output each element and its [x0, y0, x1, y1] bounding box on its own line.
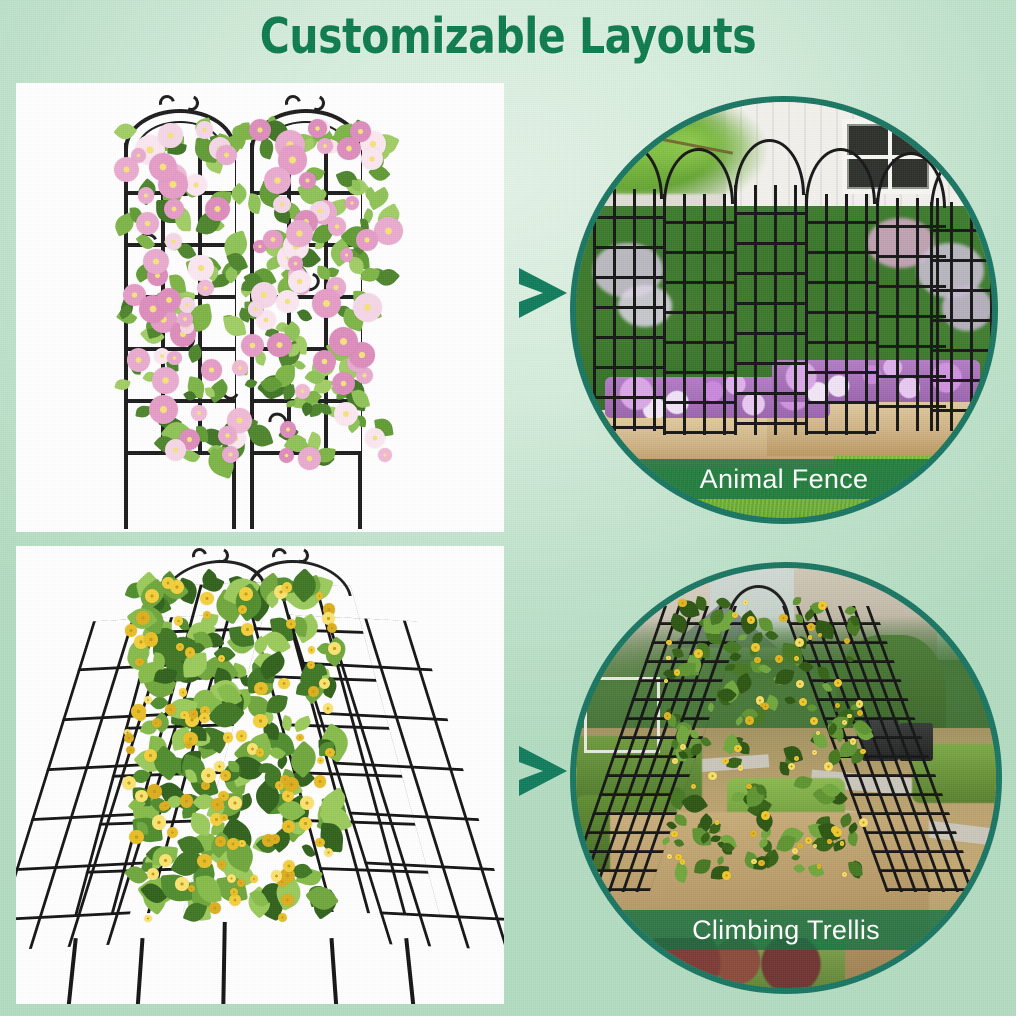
leaf: [793, 773, 812, 790]
flower: [131, 704, 146, 719]
leaf: [662, 837, 671, 845]
flower: [332, 372, 355, 395]
flower: [732, 612, 738, 618]
flower: [191, 405, 207, 421]
flower: [196, 121, 213, 138]
flower: [159, 854, 172, 867]
flower: [288, 256, 303, 271]
leaf: [784, 695, 796, 706]
flower: [127, 348, 150, 371]
leaf: [806, 702, 818, 714]
leaf: [793, 862, 806, 875]
flower: [179, 688, 187, 696]
flower: [818, 633, 822, 637]
product-card-flat-trellis: [16, 83, 504, 532]
flower: [316, 592, 323, 599]
flower: [746, 784, 751, 789]
flower: [188, 255, 214, 281]
flower: [164, 199, 184, 219]
leaf: [690, 743, 702, 755]
flower: [374, 217, 402, 245]
flower: [152, 367, 178, 393]
flower: [817, 864, 822, 869]
flower: [860, 749, 865, 754]
flower: [691, 784, 696, 789]
flower: [125, 624, 138, 637]
flower: [165, 439, 186, 460]
flower: [722, 758, 728, 764]
flower: [666, 640, 672, 646]
flower: [751, 643, 759, 651]
leaf: [280, 715, 294, 732]
flower: [179, 297, 195, 313]
arrow-to-animal-fence: [515, 264, 571, 322]
infographic-poster: Customizable Layouts: [0, 0, 1016, 1016]
flower: [299, 172, 315, 188]
flower: [237, 879, 245, 887]
flower: [824, 762, 833, 771]
flower: [149, 153, 177, 181]
flower: [158, 123, 182, 147]
flower: [833, 828, 842, 837]
flower: [812, 750, 817, 755]
flower: [667, 854, 673, 860]
flower: [792, 848, 798, 854]
flower: [675, 854, 682, 861]
flower: [715, 820, 719, 824]
flower: [185, 741, 192, 748]
flower: [199, 713, 210, 724]
flower: [220, 814, 228, 822]
flower: [760, 703, 765, 708]
clematis-foliage: [16, 83, 504, 532]
leaf: [265, 693, 287, 715]
flower: [215, 836, 226, 847]
flower: [788, 763, 795, 770]
flower: [738, 765, 744, 771]
flower: [797, 843, 803, 849]
climbing-trellis-photo: Climbing Trellis: [570, 562, 1002, 994]
fence-panel: [930, 202, 992, 431]
flower: [796, 680, 804, 688]
flower: [313, 350, 336, 373]
leaf: [716, 856, 726, 865]
flower: [147, 784, 162, 799]
flower: [122, 776, 136, 790]
flower: [694, 649, 703, 658]
flower: [754, 657, 760, 663]
flower: [808, 635, 813, 640]
flower: [361, 148, 383, 170]
flower: [165, 233, 182, 250]
flower: [722, 871, 731, 880]
flower: [674, 669, 680, 675]
flower: [279, 448, 295, 464]
flower: [175, 877, 188, 890]
flower: [750, 830, 757, 837]
flower: [794, 656, 799, 661]
flower: [844, 638, 850, 644]
flower: [216, 145, 236, 165]
flower: [174, 616, 183, 625]
leaf: [301, 842, 316, 858]
flower: [323, 703, 333, 713]
flower: [282, 820, 295, 833]
flower: [324, 848, 333, 857]
flower: [334, 402, 358, 426]
flower: [298, 447, 320, 469]
flower: [201, 359, 223, 381]
leaf: [690, 729, 699, 739]
flower: [185, 174, 207, 196]
flower: [807, 623, 816, 632]
flower: [317, 757, 324, 764]
flower: [308, 119, 327, 138]
leaf: [292, 716, 311, 733]
flower: [236, 730, 248, 742]
flower: [144, 696, 152, 704]
flower: [217, 860, 226, 869]
flower: [799, 698, 808, 707]
leaf: [672, 862, 690, 884]
flower: [325, 748, 334, 757]
flower: [818, 601, 827, 610]
flower: [167, 827, 178, 838]
flower: [664, 679, 668, 683]
fence-panel: [663, 194, 734, 435]
flower: [278, 678, 289, 689]
leaf: [791, 853, 800, 862]
leaf: [114, 119, 138, 143]
flower: [745, 716, 754, 725]
leaf: [739, 634, 747, 641]
leaf: [844, 604, 856, 616]
leaf: [707, 702, 716, 712]
flower: [256, 748, 264, 756]
flower: [205, 197, 230, 222]
arrow-to-climbing-trellis: [515, 742, 571, 800]
leaf: [821, 682, 832, 695]
leaf: [818, 666, 830, 680]
flower: [286, 220, 313, 247]
cucumber-foliage: [16, 546, 504, 1004]
flower: [209, 902, 221, 914]
leaf: [795, 614, 803, 624]
flower: [356, 229, 378, 251]
leaf: [674, 814, 687, 826]
leaf: [731, 790, 745, 802]
flower: [230, 888, 238, 896]
flower: [315, 838, 325, 848]
flower: [666, 656, 671, 661]
leaf: [671, 647, 683, 659]
leaf: [115, 377, 131, 391]
flower: [761, 811, 770, 820]
leaf: [851, 616, 860, 626]
flower: [197, 854, 211, 868]
flower: [143, 249, 169, 275]
flower: [327, 623, 338, 634]
flower: [280, 775, 289, 784]
flower: [267, 333, 292, 358]
flower: [180, 794, 194, 808]
flower: [345, 196, 359, 210]
flower: [734, 745, 742, 753]
leaf: [814, 620, 835, 640]
flower: [238, 840, 245, 847]
flower: [353, 293, 382, 322]
flower: [842, 872, 847, 877]
flower: [276, 290, 299, 313]
leaf: [673, 837, 684, 848]
flower: [200, 592, 214, 606]
flower: [218, 655, 225, 662]
flower: [189, 709, 198, 718]
flower: [365, 428, 385, 448]
product-card-aframe-trellis: [16, 546, 504, 1004]
flower: [144, 915, 151, 922]
leaf: [734, 716, 745, 726]
flower: [129, 830, 143, 844]
flower: [138, 187, 155, 204]
fence-panel: [805, 194, 876, 435]
flower: [835, 703, 840, 708]
flower: [152, 815, 167, 830]
flower: [378, 448, 392, 462]
climbing-trellis-caption: Climbing Trellis: [576, 910, 996, 950]
fence-panel: [593, 189, 664, 430]
flower: [805, 837, 812, 844]
flower: [810, 717, 818, 725]
flower: [157, 288, 181, 312]
fence-panel: [734, 185, 805, 435]
leaf: [793, 597, 801, 606]
flower: [222, 446, 239, 463]
flower: [340, 248, 353, 261]
flower: [847, 714, 852, 719]
flower: [228, 796, 242, 810]
flower: [680, 859, 685, 864]
leaf: [774, 667, 794, 686]
flower: [308, 686, 318, 696]
flower: [124, 733, 134, 743]
flower: [672, 758, 678, 764]
flower: [223, 732, 234, 743]
leaf: [845, 654, 854, 663]
flower: [743, 600, 748, 605]
flower: [708, 772, 717, 781]
flower: [850, 738, 857, 745]
flower: [147, 868, 158, 879]
leaf: [244, 377, 257, 390]
flower: [775, 655, 783, 663]
flower: [319, 678, 330, 689]
leaf: [351, 180, 360, 191]
flower: [126, 746, 135, 755]
leaf: [700, 736, 712, 748]
leaf: [186, 344, 205, 364]
flower: [314, 775, 326, 787]
flower: [197, 280, 213, 296]
flower: [779, 614, 787, 622]
flower: [136, 611, 149, 624]
flower: [248, 301, 263, 316]
flower: [308, 646, 316, 654]
flower: [278, 913, 287, 922]
flower: [859, 818, 868, 827]
flower: [167, 351, 182, 366]
flower: [270, 834, 279, 843]
flower: [136, 212, 160, 236]
flower: [263, 230, 283, 250]
flower: [671, 831, 678, 838]
flower: [856, 700, 863, 707]
flower: [280, 421, 297, 438]
flower: [300, 796, 314, 810]
flower: [180, 711, 188, 719]
flower: [144, 632, 159, 647]
flower: [834, 679, 842, 687]
flower: [229, 894, 241, 906]
animal-fence-photo: Animal Fence: [570, 96, 998, 524]
flower: [135, 790, 147, 802]
flower: [264, 167, 291, 194]
flower: [176, 643, 184, 651]
flower: [114, 157, 139, 182]
flower: [299, 817, 312, 830]
flower: [350, 121, 371, 142]
leaf: [360, 267, 379, 284]
flower: [135, 658, 144, 667]
page-title: Customizable Layouts: [36, 8, 981, 65]
flower: [328, 217, 346, 235]
flower: [239, 587, 253, 601]
flower: [177, 311, 193, 327]
leaf: [694, 857, 711, 874]
flower: [795, 638, 804, 647]
leaf: [258, 762, 272, 773]
flower: [250, 875, 257, 882]
flower: [162, 577, 174, 589]
animal-fence-caption: Animal Fence: [576, 459, 992, 499]
flower: [312, 289, 341, 318]
flower: [827, 839, 832, 844]
flower: [227, 874, 236, 883]
leaf: [296, 307, 312, 324]
flower: [857, 710, 863, 716]
